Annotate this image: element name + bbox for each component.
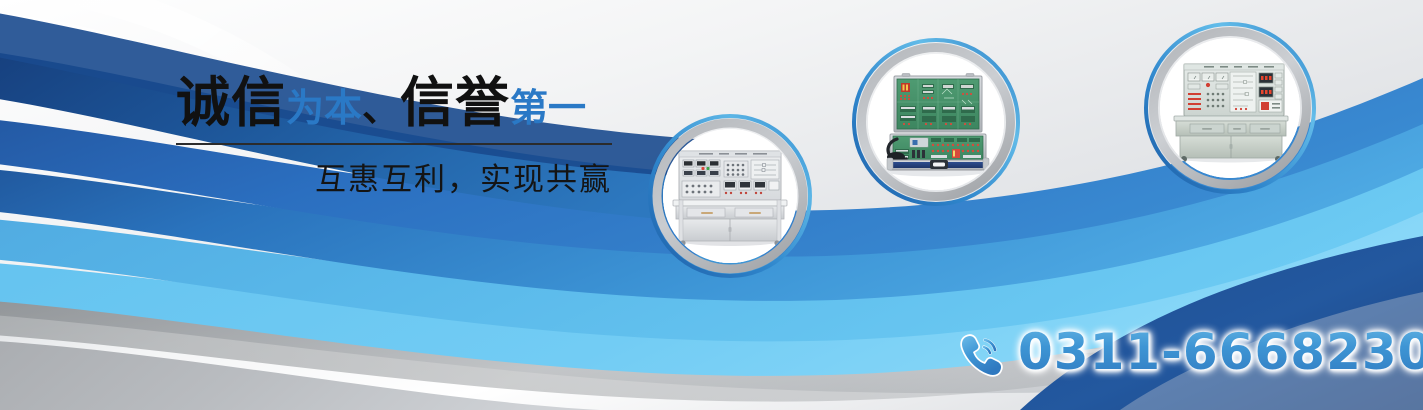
headline-divider <box>176 143 612 145</box>
promo-banner: 诚信为本、信誉第一 互惠互利，实现共赢 <box>0 0 1423 410</box>
headline-part1: 诚信 <box>176 71 286 134</box>
headline-comma: 、 <box>362 86 400 130</box>
product-image-1 <box>663 129 797 263</box>
phone-number[interactable]: 0311-66682303 <box>1018 322 1423 384</box>
headline: 诚信为本、信誉第一 <box>176 72 622 134</box>
headline-part2: 为本 <box>286 86 362 130</box>
phone-call-icon <box>955 328 1007 378</box>
product-circle-1[interactable] <box>648 114 812 278</box>
slogan-block: 诚信为本、信誉第一 互惠互利，实现共赢 <box>0 0 660 230</box>
headline-part4: 第一 <box>510 86 586 130</box>
subtitle: 互惠互利，实现共赢 <box>176 158 612 202</box>
product-image-2 <box>868 54 1004 190</box>
product-image-3 <box>1160 38 1300 178</box>
product-circle-3[interactable] <box>1144 22 1316 194</box>
product-circle-2[interactable] <box>852 38 1020 206</box>
headline-part3: 信誉 <box>400 71 510 134</box>
